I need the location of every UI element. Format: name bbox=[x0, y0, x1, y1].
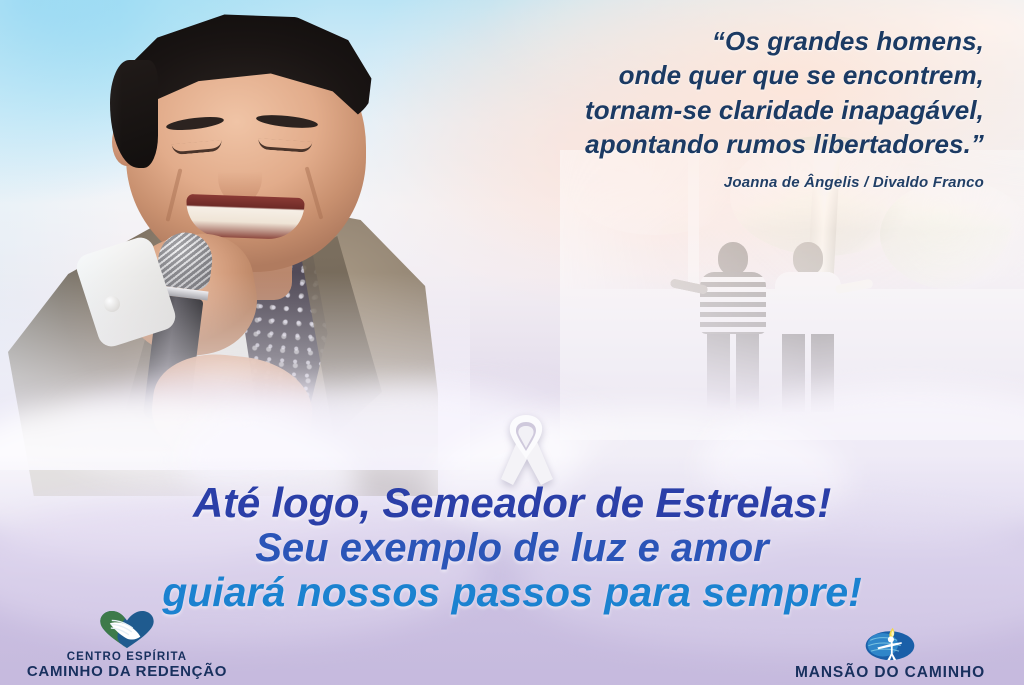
portrait-blend-overlay bbox=[0, 0, 470, 470]
quote-block: “Os grandes homens, onde quer que se enc… bbox=[424, 24, 984, 193]
quote-line-2: onde quer que se encontrem, bbox=[424, 58, 984, 92]
headline-block: Até logo, Semeador de Estrelas! Seu exem… bbox=[0, 482, 1024, 613]
quote-attribution: Joanna de Ângelis / Divaldo Franco bbox=[424, 173, 984, 193]
portrait-divaldo-franco bbox=[0, 0, 470, 470]
globe-figure-flame-icon bbox=[770, 623, 1010, 663]
headline-line-2: Seu exemplo de luz e amor bbox=[0, 528, 1024, 569]
heart-hands-icon bbox=[12, 610, 242, 650]
headline-line-1: Até logo, Semeador de Estrelas! bbox=[0, 482, 1024, 525]
quote-line-1: “Os grandes homens, bbox=[424, 24, 984, 58]
photo-fade-overlay bbox=[560, 150, 1024, 440]
logo-left-line-2: CAMINHO DA REDENÇÃO bbox=[12, 664, 242, 681]
memorial-poster: “Os grandes homens, onde quer que se enc… bbox=[0, 0, 1024, 685]
quote-line-4: apontando rumos libertadores.” bbox=[424, 127, 984, 161]
headline-line-3: guiará nossos passos para sempre! bbox=[0, 572, 1024, 614]
quote-line-3: tornam-se claridade inapagável, bbox=[424, 93, 984, 127]
background-photo-scene bbox=[560, 150, 1024, 440]
logo-centro-espirita: CENTRO ESPÍRITA CAMINHO DA REDENÇÃO bbox=[12, 610, 242, 681]
logo-right-line-2: MANSÃO DO CAMINHO bbox=[770, 664, 1010, 681]
logo-mansao-do-caminho: MANSÃO DO CAMINHO bbox=[770, 623, 1010, 681]
